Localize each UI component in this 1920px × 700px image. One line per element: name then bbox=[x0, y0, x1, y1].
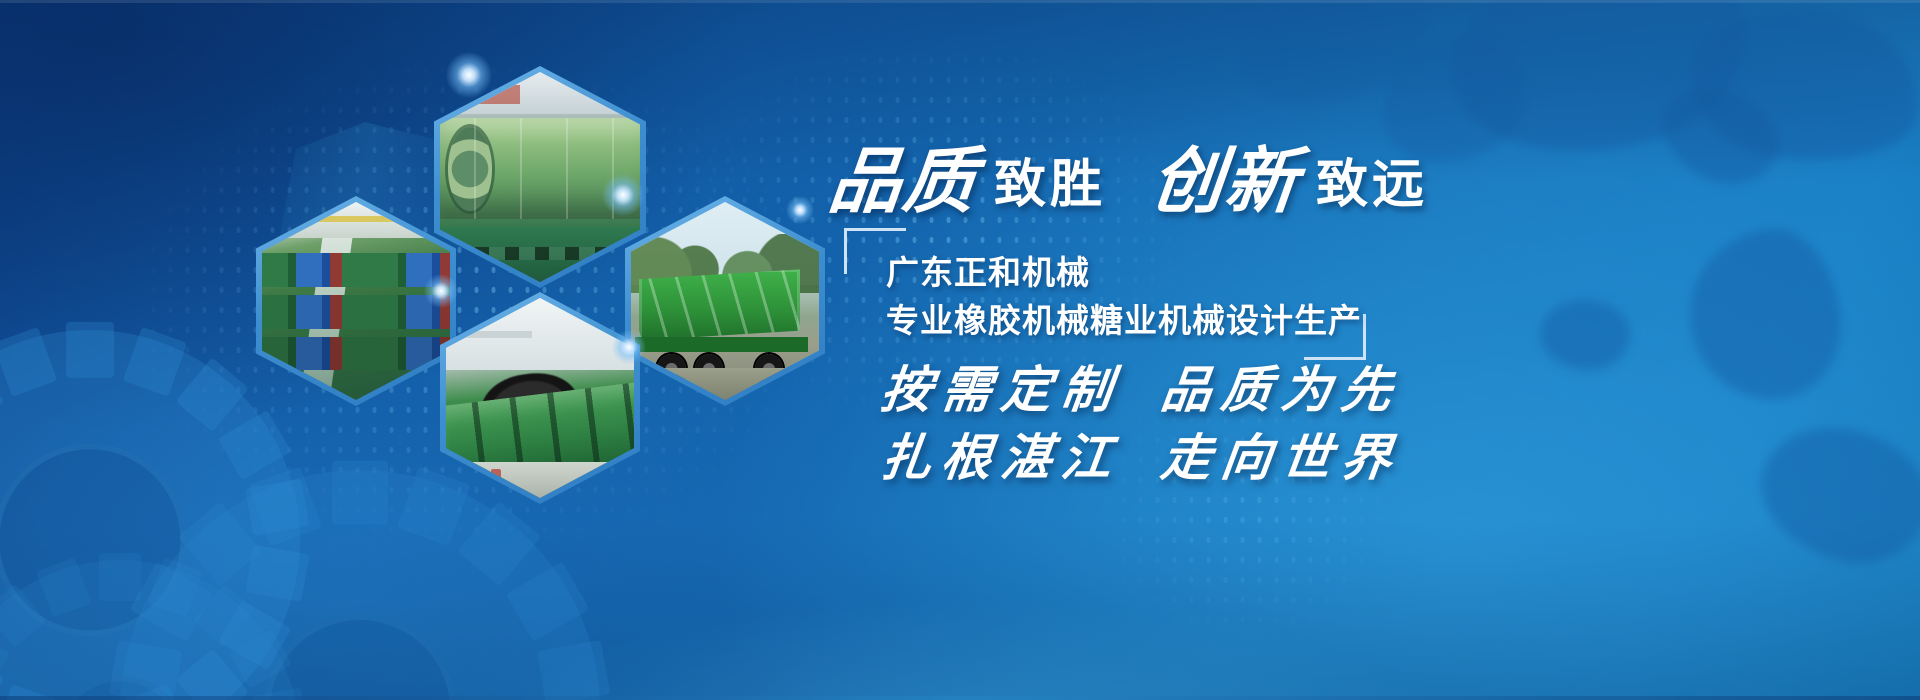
hex-photo-left-frame[interactable] bbox=[256, 196, 456, 406]
headline-part1-brush: 品质 bbox=[824, 122, 983, 227]
glow-dot-icon bbox=[612, 330, 646, 364]
glow-dot-icon bbox=[424, 274, 458, 308]
banner-bottom-edge bbox=[0, 696, 1920, 700]
glow-dot-icon bbox=[786, 196, 814, 224]
slogan-2-left: 扎根湛江 bbox=[878, 428, 1125, 487]
banner-text-block: 品质致胜创新致远 广东正和机械 专业橡胶机械糖业机械设计生产 按需定制品质为先 … bbox=[820, 0, 1920, 700]
hex-photo-cluster bbox=[0, 0, 900, 700]
headline-part2-plain: 致远 bbox=[1300, 142, 1440, 217]
headline: 品质致胜创新致远 bbox=[830, 122, 1830, 218]
hex-photo-right-image bbox=[631, 202, 819, 400]
slogan-line-1: 按需定制品质为先 bbox=[878, 350, 1407, 422]
subtitle-line-2: 专业橡胶机械糖业机械设计生产 bbox=[886, 294, 1362, 342]
glow-dot-icon bbox=[602, 174, 644, 216]
hex-photo-bottom-frame[interactable] bbox=[440, 292, 640, 504]
slogan-1-right: 品质为先 bbox=[1158, 360, 1405, 419]
glow-dot-icon bbox=[446, 52, 492, 98]
slogan-line-2: 扎根湛江走向世界 bbox=[878, 418, 1407, 490]
headline-part1-plain: 致胜 bbox=[978, 142, 1118, 217]
promo-banner: 品质致胜创新致远 广东正和机械 专业橡胶机械糖业机械设计生产 按需定制品质为先 … bbox=[0, 0, 1920, 700]
hex-photo-right-frame[interactable] bbox=[625, 196, 825, 406]
subtitle-bracket-block: 广东正和机械 专业橡胶机械糖业机械设计生产 bbox=[844, 228, 1344, 344]
slogan-2-right: 走向世界 bbox=[1158, 428, 1405, 487]
hex-photo-left-image bbox=[262, 202, 450, 400]
headline-part2-brush: 创新 bbox=[1147, 122, 1306, 227]
slogan-1-left: 按需定制 bbox=[878, 360, 1125, 419]
banner-top-edge bbox=[0, 0, 1920, 3]
subtitle-line-1: 广东正和机械 bbox=[886, 246, 1090, 294]
hex-photo-bottom-image bbox=[446, 298, 634, 498]
